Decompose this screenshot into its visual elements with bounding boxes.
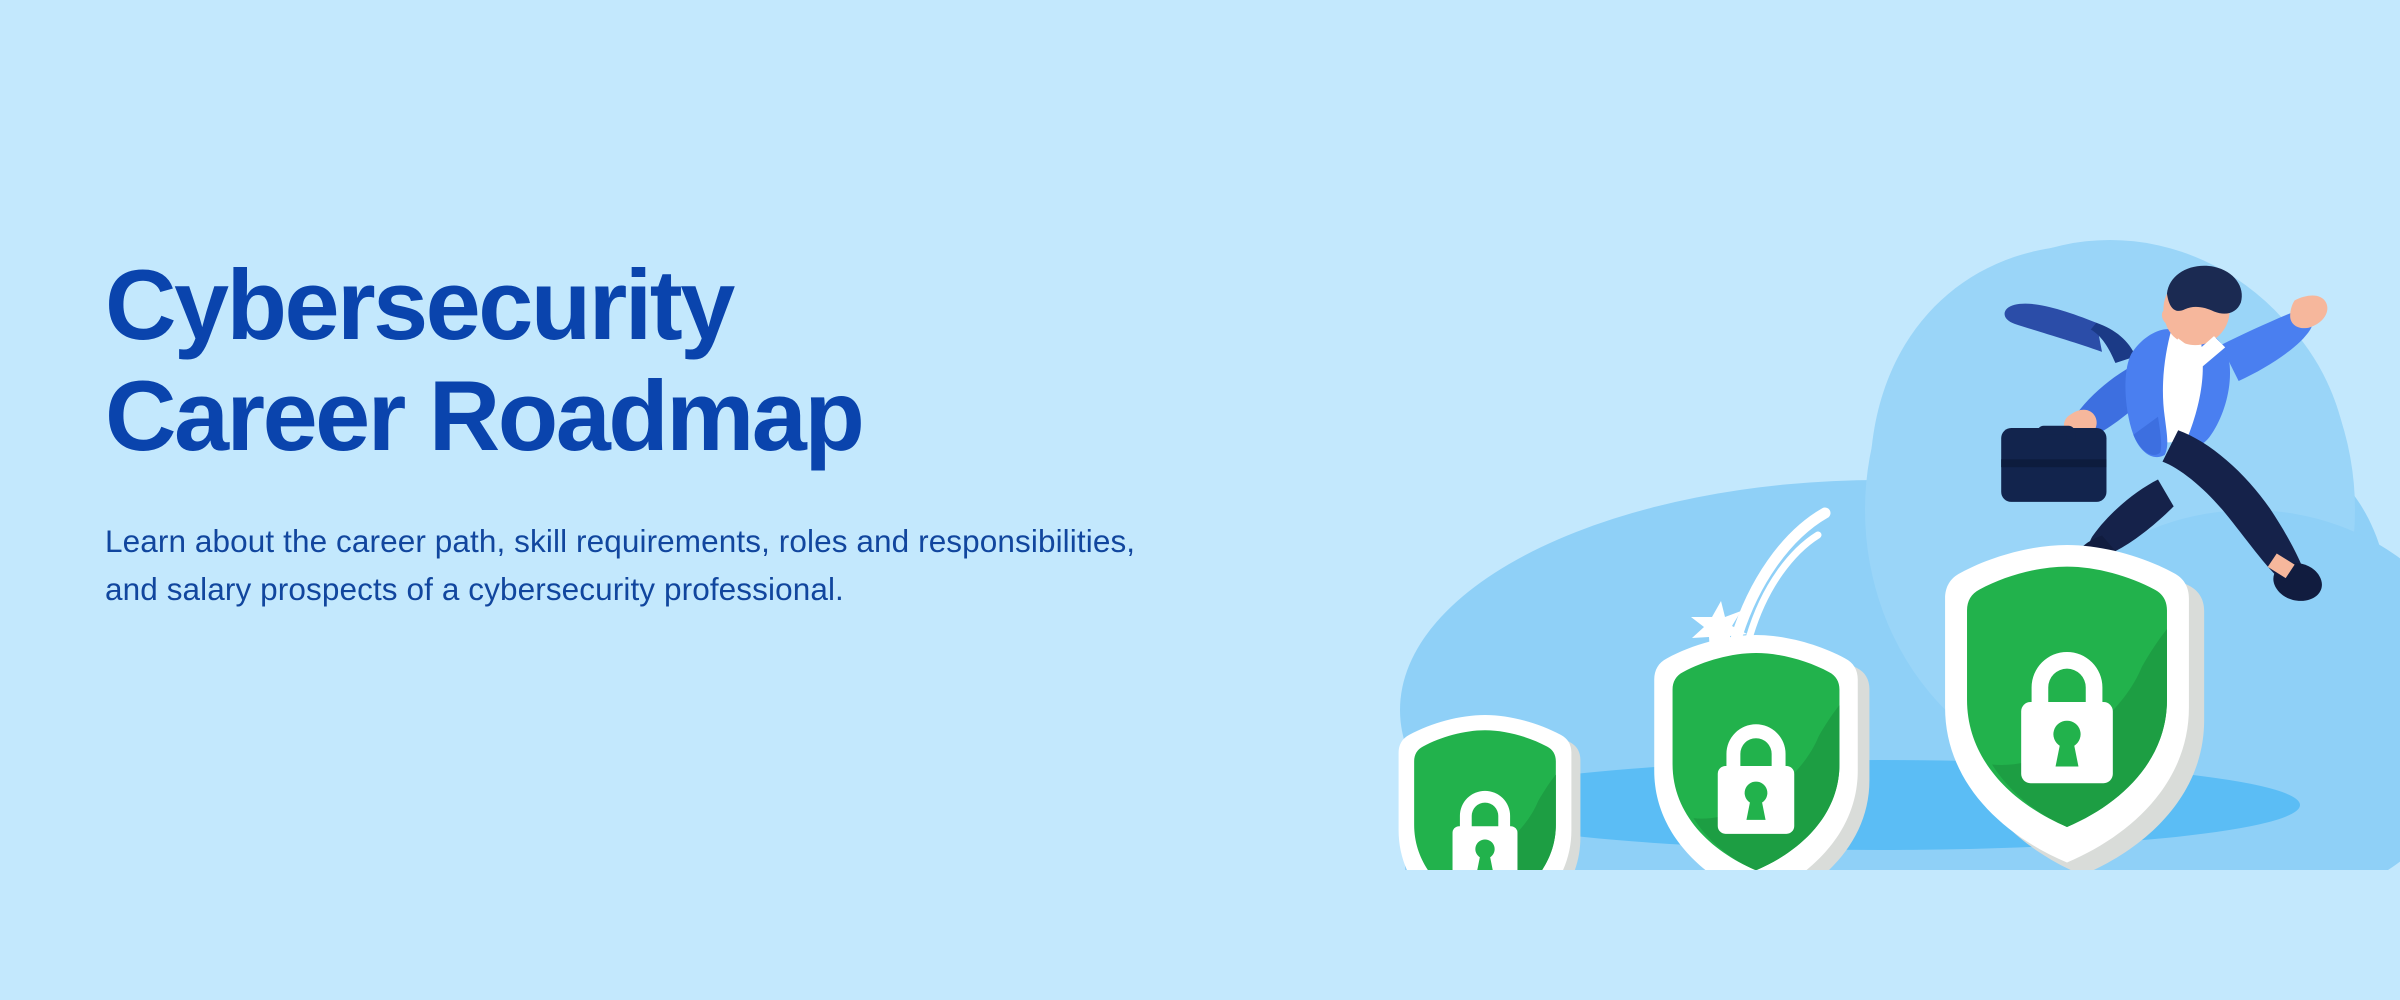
hero-illustration: [1350, 150, 2400, 870]
hero-copy-block: Cybersecurity Career Roadmap Learn about…: [105, 250, 1225, 614]
hero-banner: Cybersecurity Career Roadmap Learn about…: [0, 0, 2400, 1000]
shield-medium: [1654, 635, 1869, 870]
page-title: Cybersecurity Career Roadmap: [105, 250, 1225, 472]
hand-front: [2290, 296, 2327, 329]
page-subtitle: Learn about the career path, skill requi…: [105, 518, 1165, 614]
shield-small: [1399, 715, 1581, 870]
briefcase-icon: [2001, 426, 2106, 502]
